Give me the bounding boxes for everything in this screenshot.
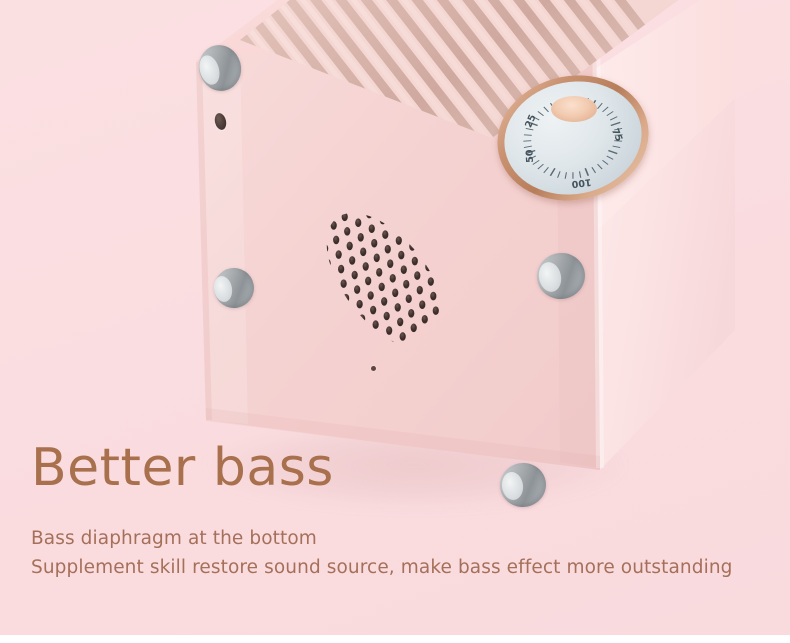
subtitle-line-1: Bass diaphragm at the bottom [31, 528, 317, 549]
subtitle-line-2: Supplement skill restore sound source, m… [31, 557, 732, 578]
rubber-foot-middle-right [537, 253, 585, 299]
dial-number-50: 50 [524, 149, 536, 163]
rubber-foot-bottom-left [214, 268, 254, 308]
page-title: Better bass [31, 442, 334, 494]
product-marketing-image: 25 50 75 100 [0, 0, 790, 643]
grille-slats [87, 0, 760, 200]
dial-number-25: 25 [523, 113, 538, 129]
knob-top-cap [551, 96, 597, 122]
status-led [371, 366, 376, 371]
volume-dial[interactable]: 25 50 75 100 [497, 76, 649, 200]
dial-knob[interactable] [551, 96, 597, 158]
rubber-foot-bottom-right [500, 463, 546, 507]
rubber-foot-top-left [199, 45, 241, 91]
ridged-top-grille [0, 0, 790, 200]
perforated-speaker-grille [296, 196, 476, 366]
grille-hole-array [296, 196, 476, 366]
dial-number-100: 100 [571, 176, 592, 189]
bottom-white-strip [0, 635, 790, 643]
